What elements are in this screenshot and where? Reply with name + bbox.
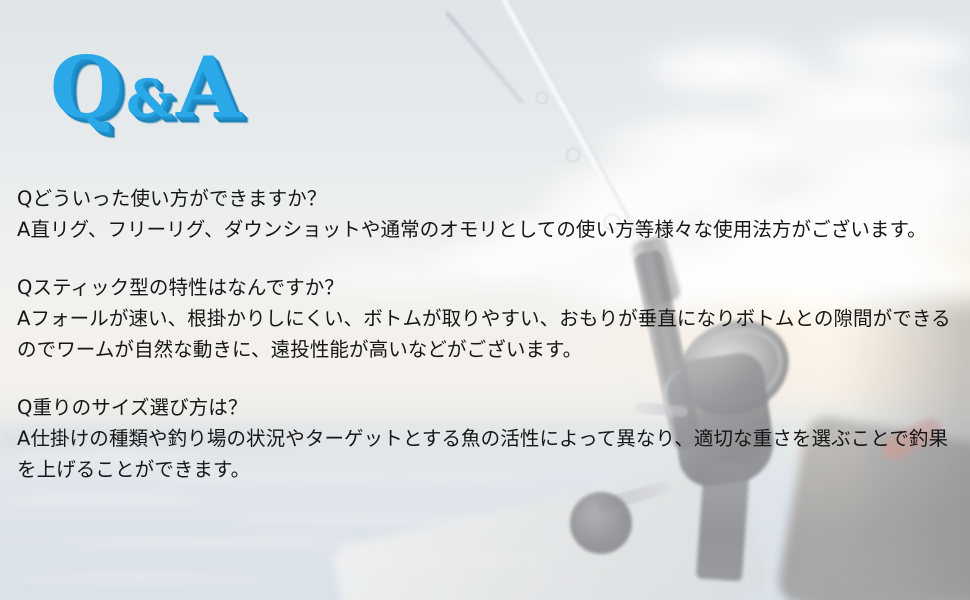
- page-title-a: A: [176, 38, 242, 137]
- faq-item: Qどういった使い方ができますか？ A直リグ、フリーリグ、ダウンショットや通常のオ…: [17, 183, 957, 245]
- page-title-q: Q: [50, 38, 124, 137]
- faq-item: Q重りのサイズ選び方は？ A仕掛けの種類や釣り場の状況やターゲットとする魚の活性…: [17, 392, 957, 485]
- faq-list: Qどういった使い方ができますか？ A直リグ、フリーリグ、ダウンショットや通常のオ…: [17, 183, 957, 485]
- faq-answer: A仕掛けの種類や釣り場の状況やターゲットとする魚の活性によって異なり、適切な重さ…: [17, 423, 957, 485]
- faq-answer: A直リグ、フリーリグ、ダウンショットや通常のオモリとしての使い方等様々な使用法方…: [17, 214, 957, 245]
- faq-item: Qスティック型の特性はなんですか？ Aフォールが速い、根掛かりしにくい、ボトムが…: [17, 272, 957, 365]
- page-title: Q&A: [50, 46, 242, 130]
- faq-answer: Aフォールが速い、根掛かりしにくい、ボトムが取りやすい、おもりが垂直になりボトム…: [17, 303, 957, 365]
- faq-question: Qスティック型の特性はなんですか？: [17, 272, 957, 303]
- qa-page: Q&A Qどういった使い方ができますか？ A直リグ、フリーリグ、ダウンショットや…: [0, 0, 970, 600]
- content-layer: Q&A Qどういった使い方ができますか？ A直リグ、フリーリグ、ダウンショットや…: [0, 0, 970, 600]
- faq-question: Qどういった使い方ができますか？: [17, 183, 957, 214]
- faq-question: Q重りのサイズ選び方は？: [17, 392, 957, 423]
- page-title-ampersand: &: [124, 69, 176, 130]
